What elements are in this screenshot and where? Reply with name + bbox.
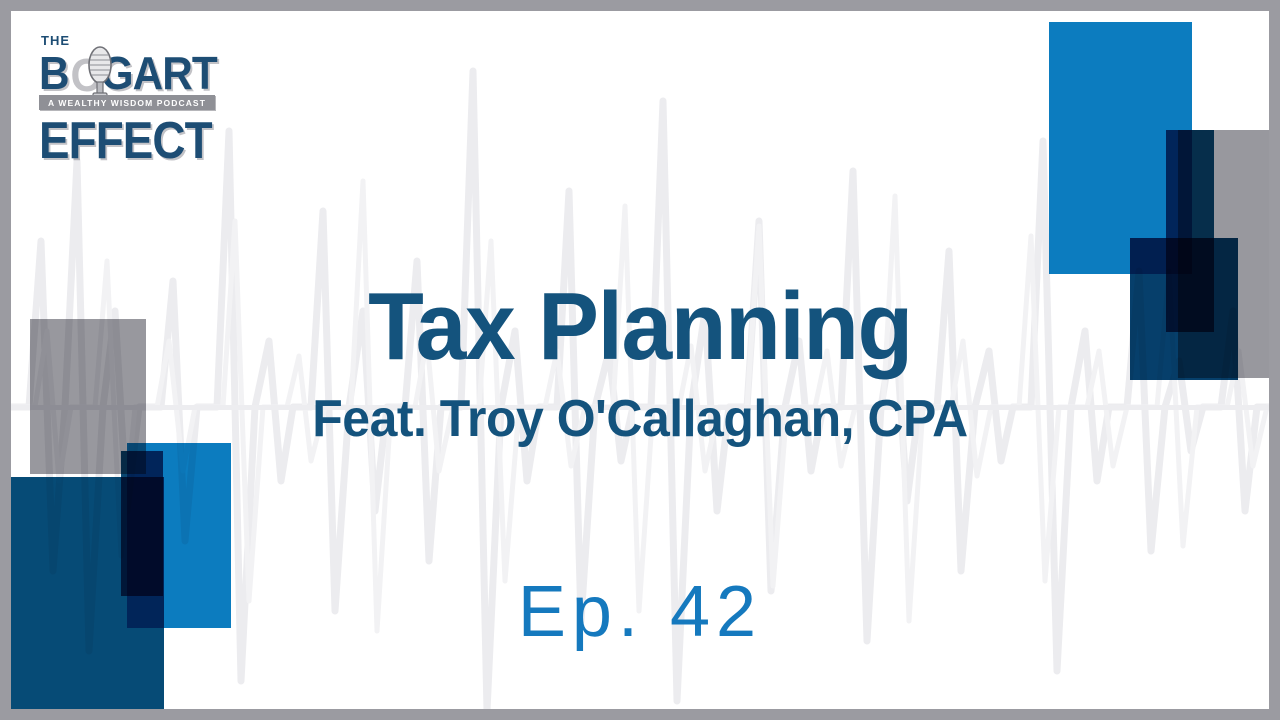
- logo-bogart-b: B: [39, 47, 69, 99]
- logo-tagline-banner: A WEALTHY WISDOM PODCAST: [39, 95, 215, 110]
- logo-tagline-text: A WEALTHY WISDOM PODCAST: [48, 98, 206, 108]
- logo-bogart-gart: GART: [101, 47, 217, 99]
- title-card: THE BOGART A WEALTHY WISDOM PODCAST: [0, 0, 1280, 720]
- block-top-right-navy: [1130, 238, 1238, 380]
- title-card-canvas: THE BOGART A WEALTHY WISDOM PODCAST: [11, 11, 1269, 709]
- logo-wordmark-effect: EFFECT: [39, 111, 212, 171]
- brand-logo[interactable]: THE BOGART A WEALTHY WISDOM PODCAST: [35, 33, 215, 173]
- logo-wordmark-bogart: BOGART: [39, 46, 217, 100]
- block-bottom-left-navy-tall: [121, 451, 163, 596]
